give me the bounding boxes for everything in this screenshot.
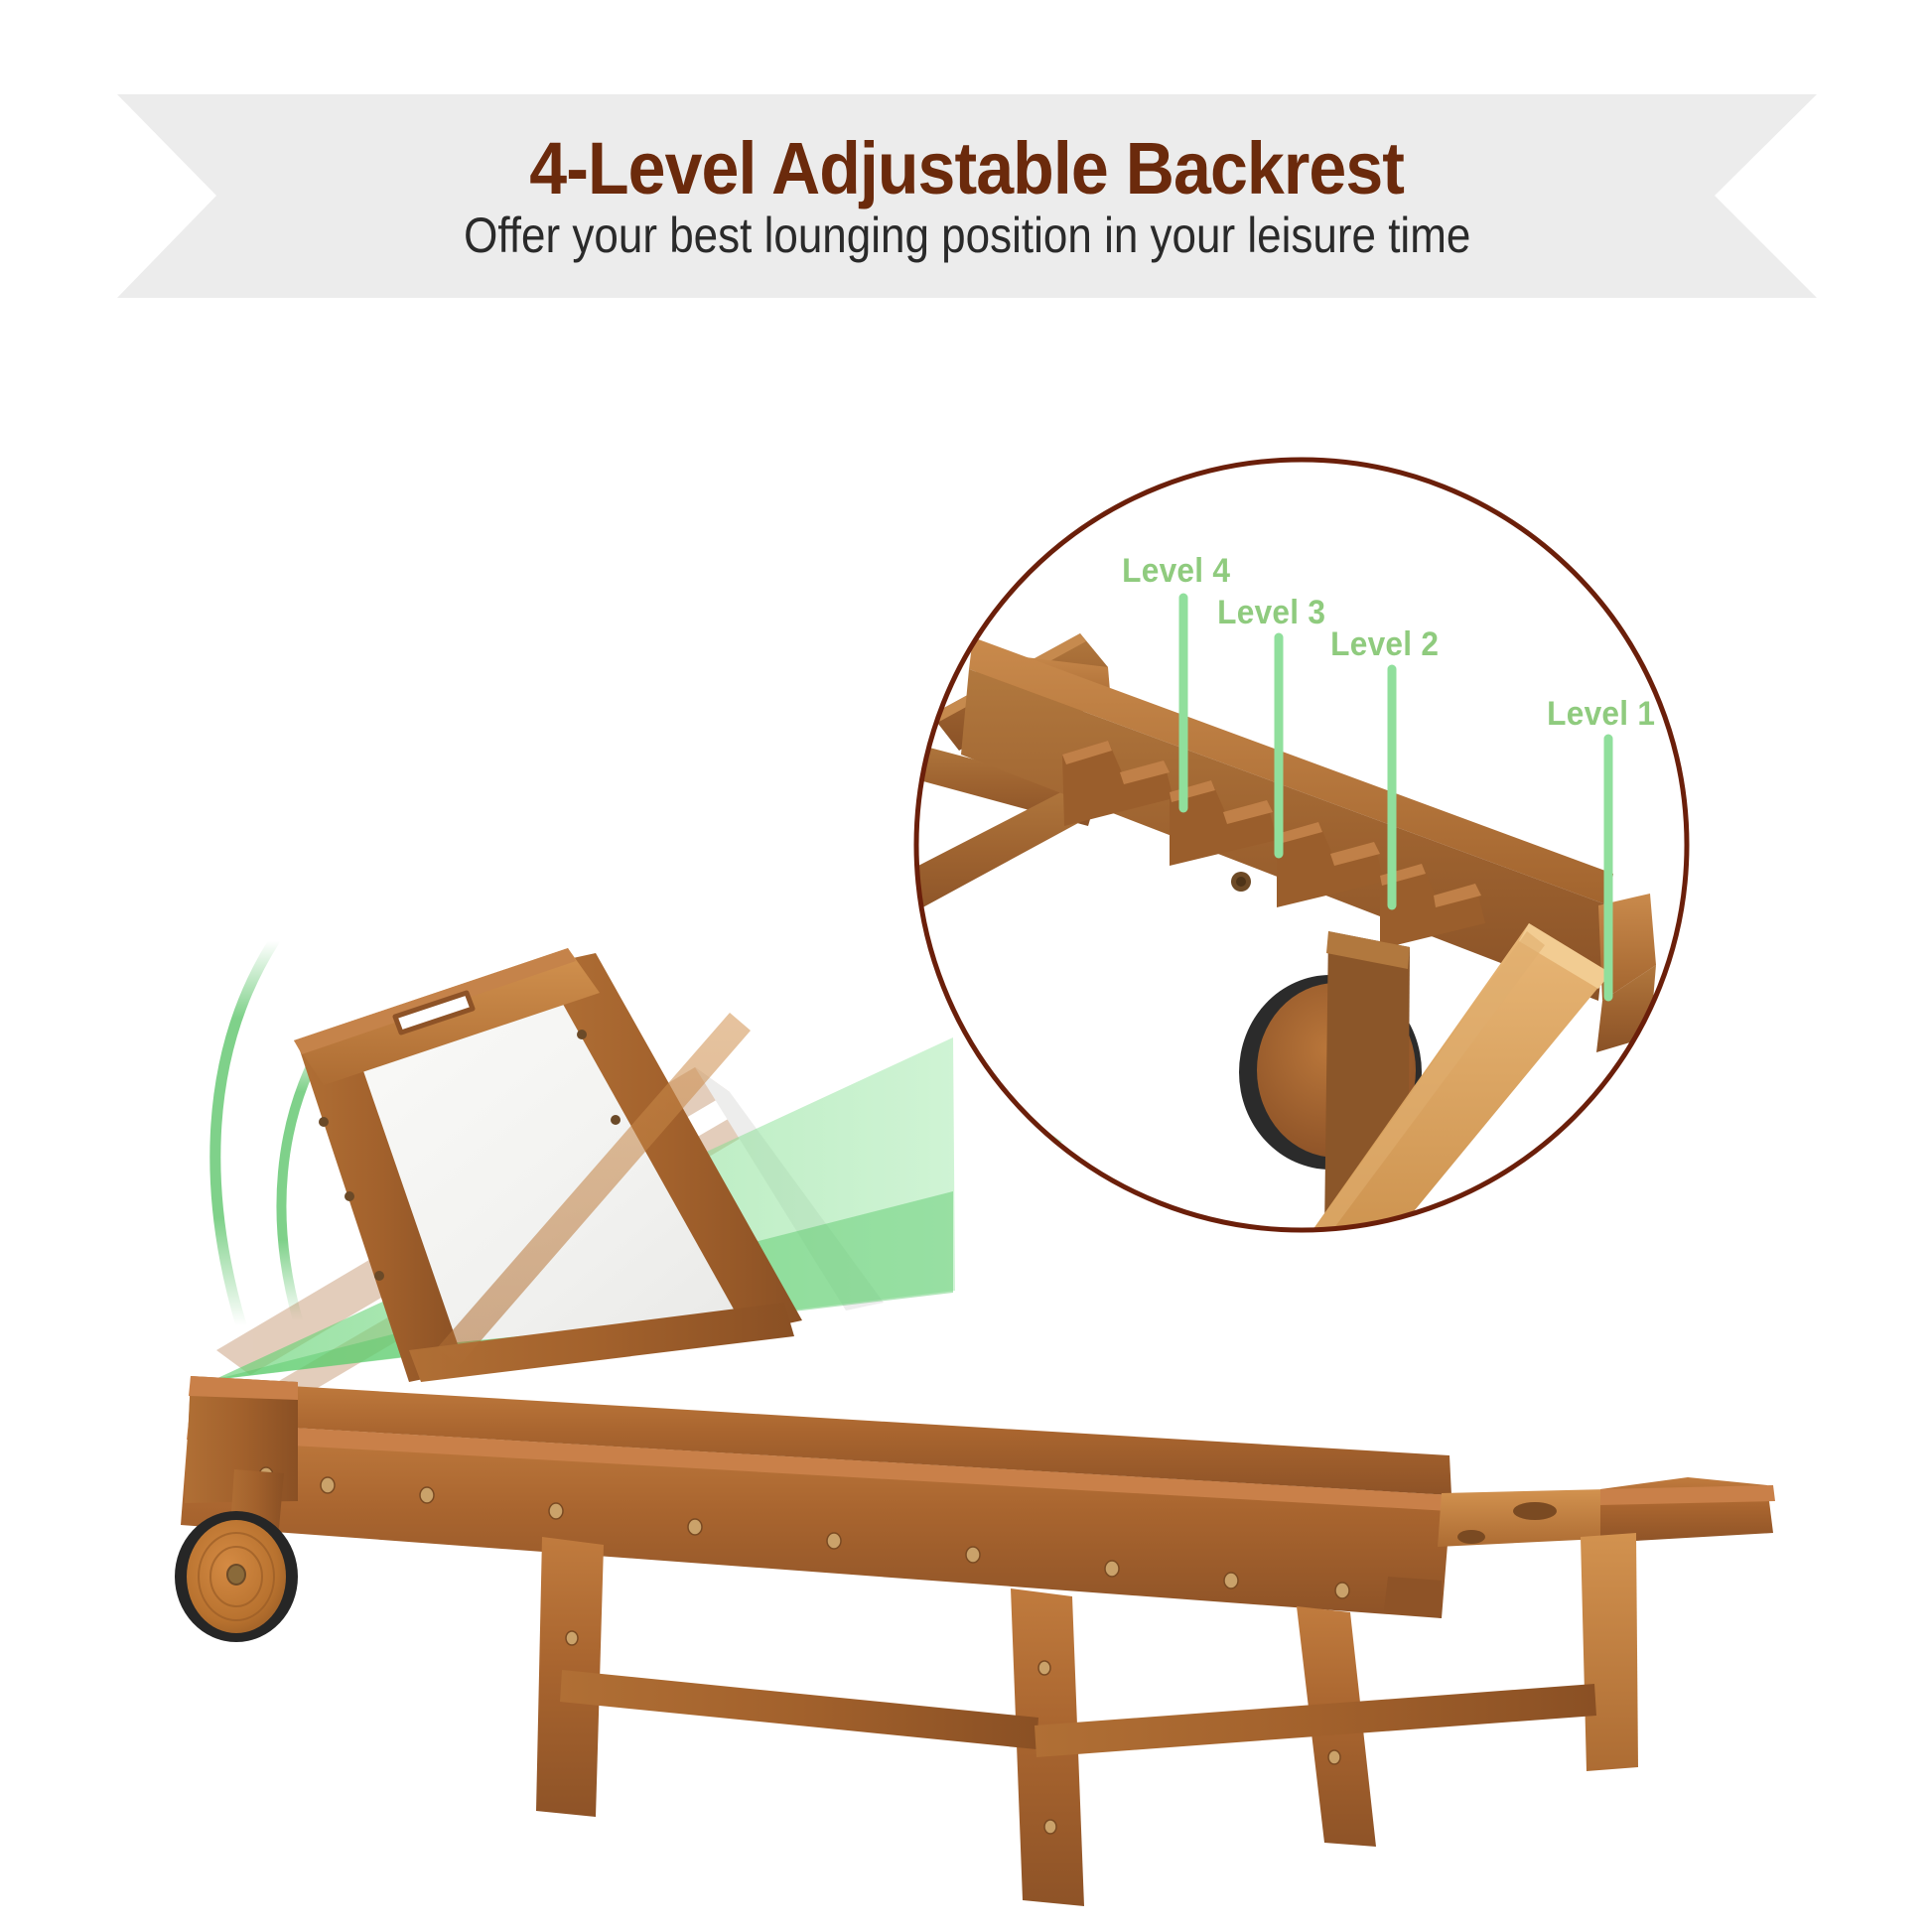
level-1-label: Level 1 xyxy=(1547,695,1655,734)
header-banner: 4-Level Adjustable Backrest Offer your b… xyxy=(117,94,1817,298)
level-3-label: Level 3 xyxy=(1217,594,1325,632)
motion-arc-outer xyxy=(215,941,274,1325)
banner-text-block: 4-Level Adjustable Backrest Offer your b… xyxy=(117,94,1817,298)
infographic-canvas: 4-Level Adjustable Backrest Offer your b… xyxy=(0,0,1932,1932)
seat-frame xyxy=(181,1376,1775,1618)
callout-graphic xyxy=(913,457,1690,1233)
page-title: 4-Level Adjustable Backrest xyxy=(530,131,1405,206)
level-4-label: Level 4 xyxy=(1122,552,1230,591)
page-subtitle: Offer your best lounging position in you… xyxy=(464,209,1470,262)
detail-callout-circle: Level 4 Level 3 Level 2 Level 1 xyxy=(913,457,1690,1233)
transport-wheel xyxy=(175,1511,298,1642)
level-2-label: Level 2 xyxy=(1330,625,1439,664)
